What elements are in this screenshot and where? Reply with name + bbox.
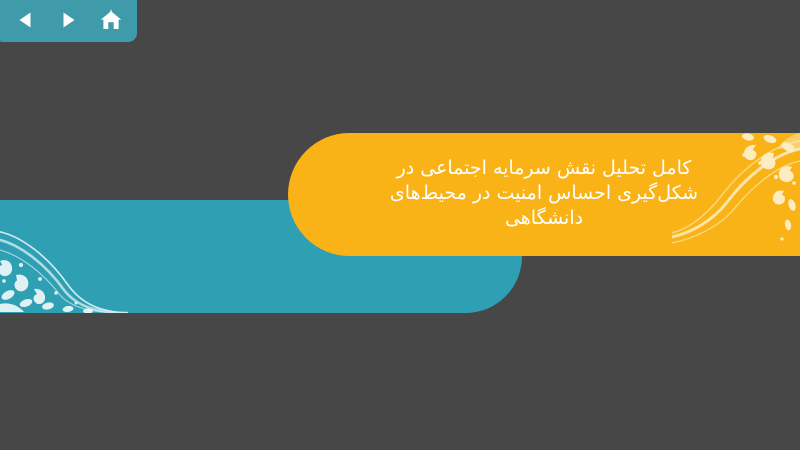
back-button[interactable] [12,5,40,35]
title-line-3: دانشگاهی [505,206,583,231]
back-icon [16,10,36,30]
arabesque-ornament-icon [0,213,128,313]
navigation-bar [0,0,137,42]
forward-button[interactable] [54,5,82,35]
forward-icon [58,10,78,30]
slide-canvas: کامل تحلیل نقش سرمایه اجتماعی در شکل‌گیر… [0,0,800,450]
home-button[interactable] [97,5,125,35]
title-line-1: کامل تحلیل نقش سرمایه اجتماعی در [397,156,692,181]
title-line-2: شکل‌گیری احساس امنیت در محیط‌های [390,181,698,206]
slide-title: کامل تحلیل نقش سرمایه اجتماعی در شکل‌گیر… [288,133,800,256]
title-banner: کامل تحلیل نقش سرمایه اجتماعی در شکل‌گیر… [288,133,800,256]
home-icon [99,8,123,32]
